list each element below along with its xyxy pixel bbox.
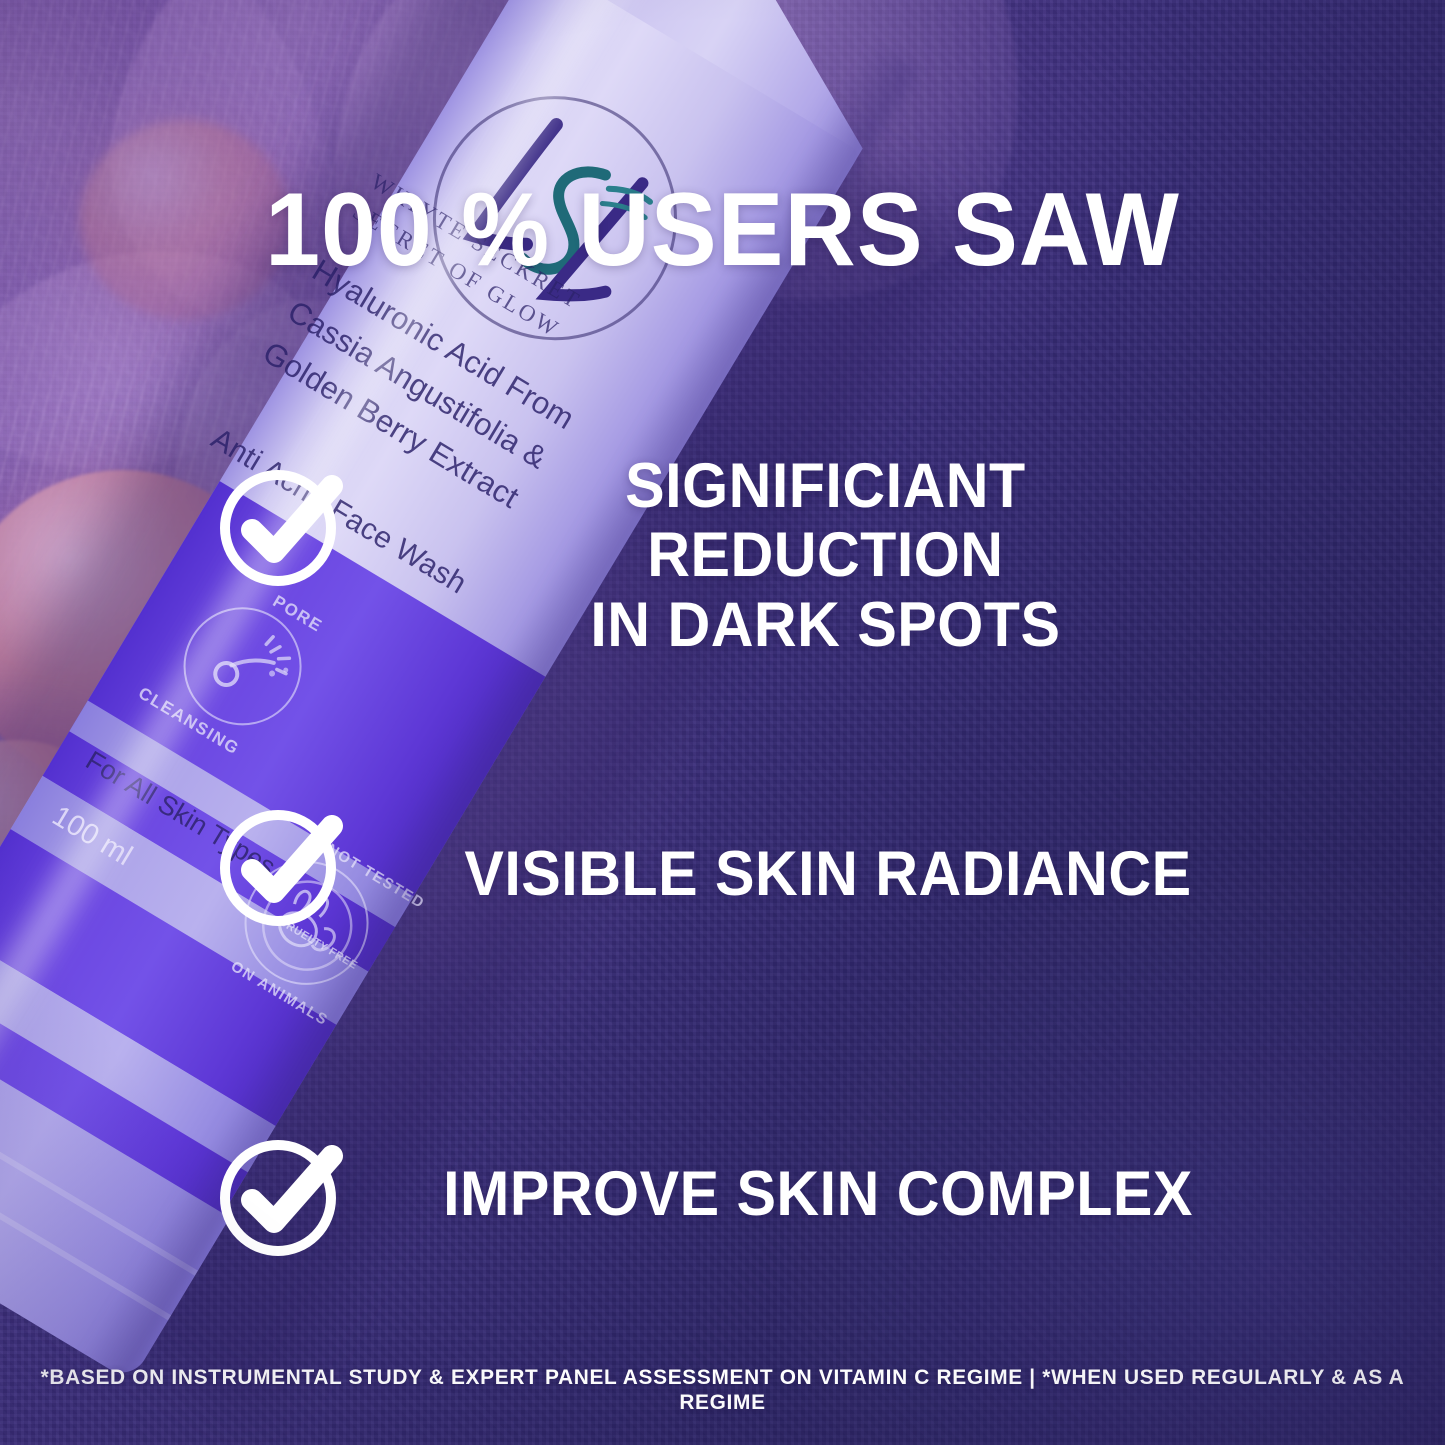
benefit-2-label: VISIBLE SKIN RADIANCE (452, 840, 1204, 909)
benefit-1-label: SIGNIFICIANT REDUCTION IN DARK SPOTS (440, 452, 1211, 660)
benefit-3-label: IMPROVE SKIN COMPLEX (442, 1160, 1194, 1229)
benefit-3-check-icon (216, 1130, 346, 1265)
page-title: 100 % USERS SAW (36, 178, 1409, 282)
promo-poster: WHIYTE SECKRET SECRET OF GLOW Hyaluronic… (0, 0, 1445, 1445)
poster-content: 100 % USERS SAW SIGNIFICIANT REDUCTION I… (0, 0, 1445, 1445)
benefit-2-check-icon (216, 800, 346, 935)
benefit-1-check-icon (216, 460, 346, 595)
disclaimer-footnote: *BASED ON INSTRUMENTAL STUDY & EXPERT PA… (22, 1365, 1424, 1415)
